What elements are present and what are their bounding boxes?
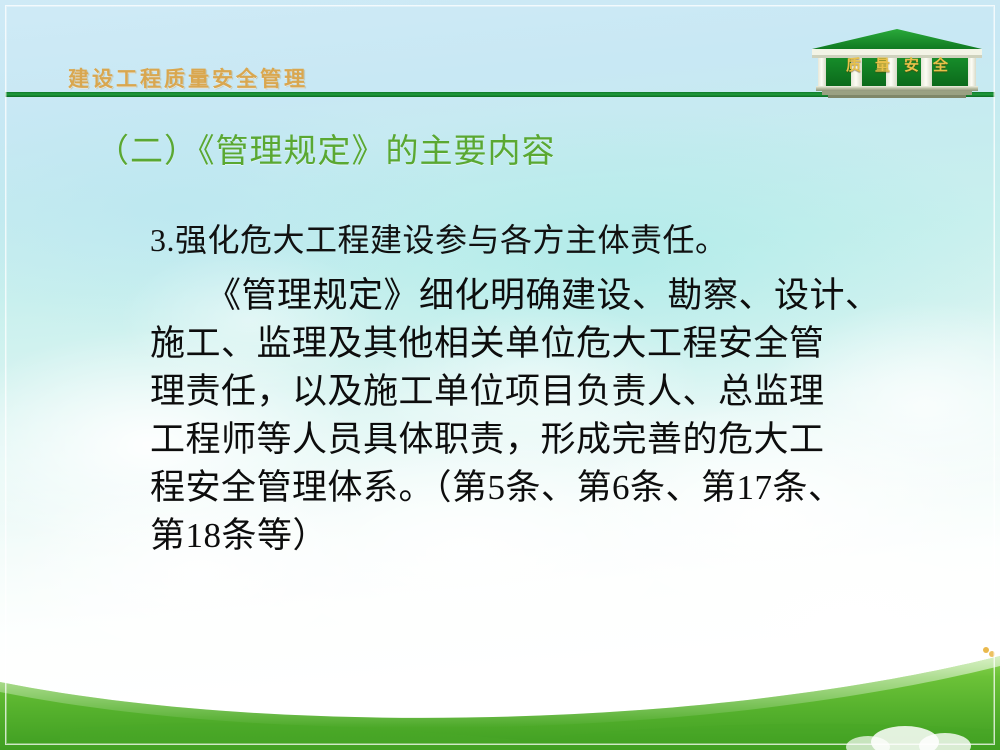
body-paragraph: 《管理规定》细化明确建设、勘察、设计、 施工、监理及其他相关单位危大工程安全管 …: [150, 272, 940, 560]
section-subtitle: （二）《管理规定》的主要内容: [96, 124, 556, 172]
body-line: 第18条等）: [150, 512, 940, 560]
point-heading: 3.强化危大工程建设参与各方主体责任。: [150, 215, 728, 261]
body-line: 施工、监理及其他相关单位危大工程安全管: [150, 320, 940, 368]
body-line: 程安全管理体系。（第5条、第6条、第17条、: [150, 464, 940, 512]
body-line: 工程师等人员具体职责，形成完善的危大工: [150, 416, 940, 464]
quality-safety-emblem: 质量安全: [808, 28, 986, 100]
body-line: 《管理规定》细化明确建设、勘察、设计、: [150, 272, 940, 320]
header-title: 建设工程质量安全管理: [68, 63, 308, 93]
body-line: 理责任，以及施工单位项目负责人、总监理: [150, 368, 940, 416]
grass-hill-decoration: [0, 590, 1000, 750]
presentation-slide: 建设工程质量安全管理: [0, 0, 1000, 750]
